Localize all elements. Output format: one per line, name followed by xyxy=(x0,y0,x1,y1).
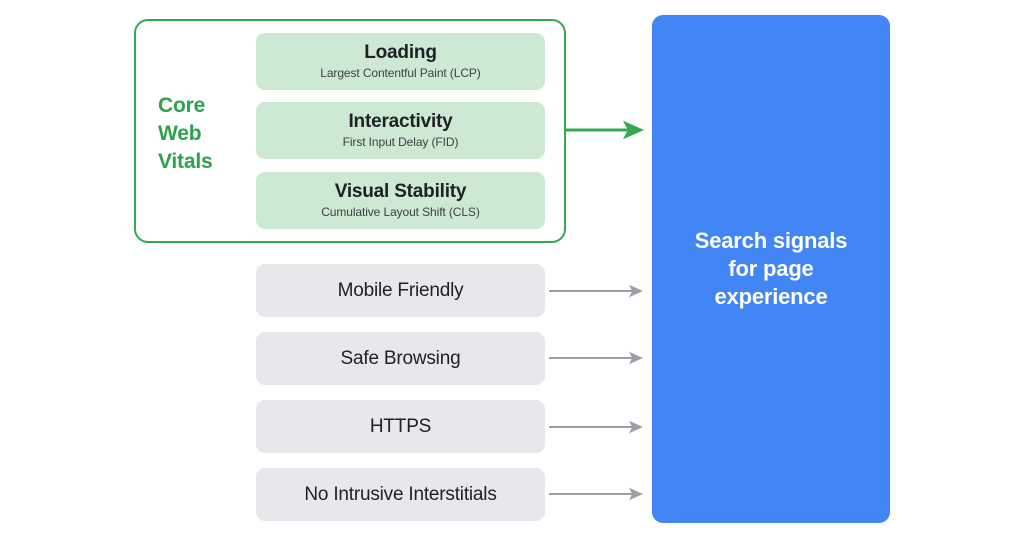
signal-title: Safe Browsing xyxy=(341,347,461,370)
vital-card-loading[interactable]: Loading Largest Contentful Paint (LCP) xyxy=(256,33,545,90)
vital-title: Interactivity xyxy=(348,110,452,133)
vital-subtitle: Cumulative Layout Shift (CLS) xyxy=(321,204,480,221)
vital-subtitle: Largest Contentful Paint (LCP) xyxy=(320,65,480,82)
core-web-vitals-group-label: CoreWebVitals xyxy=(158,92,254,176)
signal-title: Mobile Friendly xyxy=(338,279,464,302)
result-panel-text: Search signals for page experience xyxy=(681,227,862,311)
label-line-web: Web xyxy=(158,122,201,145)
signal-https[interactable]: HTTPS xyxy=(256,400,545,453)
signal-title: No Intrusive Interstitials xyxy=(304,483,496,506)
result-panel: Search signals for page experience xyxy=(652,15,890,523)
label-line-vitals: Vitals xyxy=(158,150,212,173)
signal-mobile-friendly[interactable]: Mobile Friendly xyxy=(256,264,545,317)
signal-title: HTTPS xyxy=(370,415,431,438)
diagram-canvas: CoreWebVitals Loading Largest Contentful… xyxy=(0,0,1024,539)
signal-no-intrusive-interstitials[interactable]: No Intrusive Interstitials xyxy=(256,468,545,521)
label-line-core: Core xyxy=(158,94,205,117)
vital-subtitle: First Input Delay (FID) xyxy=(343,134,459,151)
vital-card-visual-stability[interactable]: Visual Stability Cumulative Layout Shift… xyxy=(256,172,545,229)
vital-card-interactivity[interactable]: Interactivity First Input Delay (FID) xyxy=(256,102,545,159)
vital-title: Visual Stability xyxy=(335,180,467,203)
signal-safe-browsing[interactable]: Safe Browsing xyxy=(256,332,545,385)
vital-title: Loading xyxy=(364,41,436,64)
